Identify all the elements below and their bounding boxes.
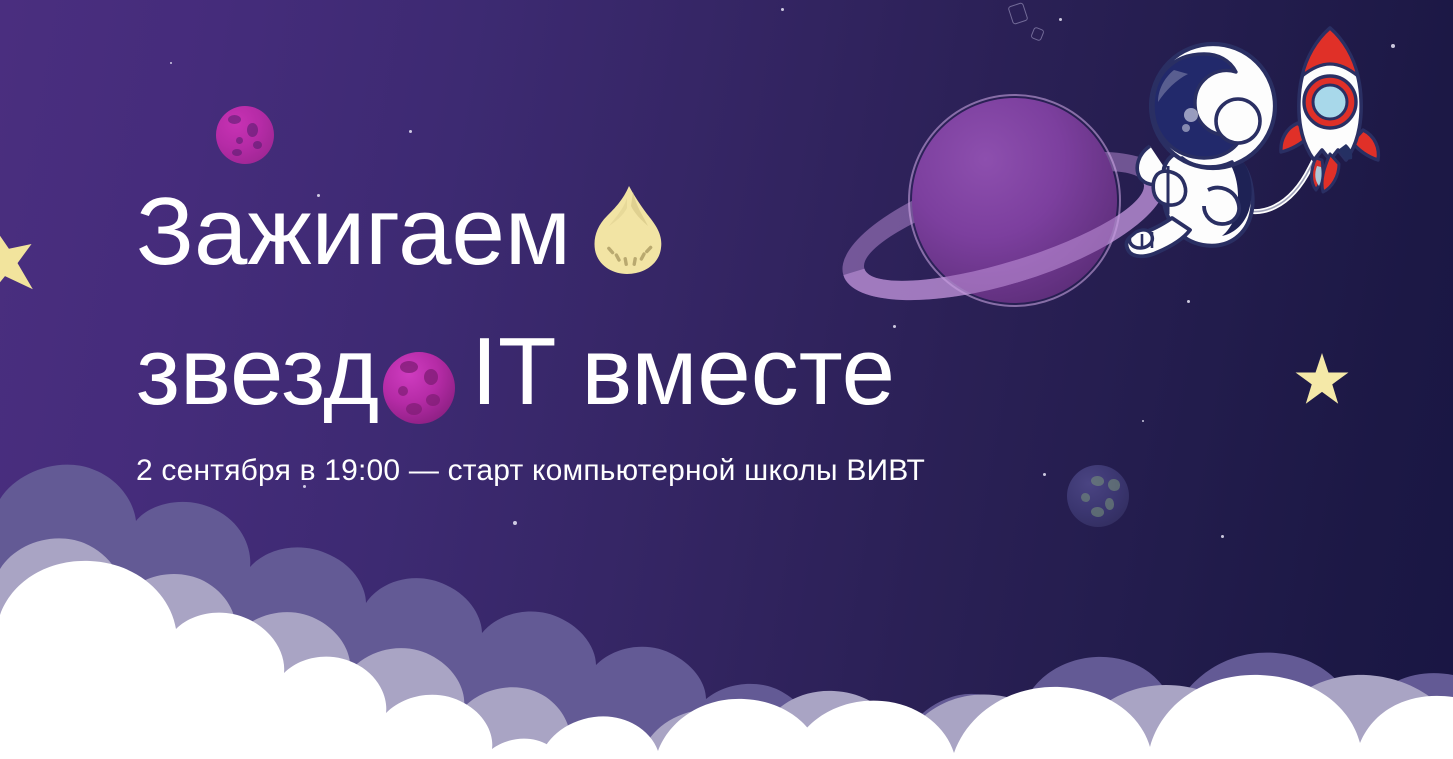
crater	[232, 149, 242, 156]
moon-icon-inline	[379, 320, 471, 448]
moon-icon-upper-left	[216, 106, 274, 164]
star-dot	[170, 62, 172, 64]
star-dot	[1142, 420, 1144, 422]
astronaut-with-rocket-illustration	[1120, 18, 1410, 283]
headline-line-2: звезд IT вместе	[136, 308, 1136, 448]
promo-banner: Зажигаем звезд	[0, 0, 1453, 759]
star-icon-left-edge	[0, 220, 43, 305]
astronaut-icon	[1126, 44, 1275, 256]
headline-line-2-text-a: звезд	[136, 318, 379, 425]
crater	[247, 123, 258, 137]
headline-line-1-text: Зажигаем	[136, 178, 571, 285]
star-icon-right	[1295, 353, 1349, 407]
headline-block: Зажигаем звезд	[136, 168, 1136, 488]
flame-icon	[571, 180, 671, 308]
star-dot	[1059, 18, 1062, 21]
star-dot	[781, 8, 784, 11]
headline-line-2-text-b: IT вместе	[471, 318, 895, 425]
cloud-icon-layer	[0, 459, 1453, 759]
faint-square-glyph	[1030, 26, 1045, 41]
crater	[253, 141, 262, 149]
rocket-icon	[1281, 28, 1379, 192]
faint-square-glyph	[1007, 2, 1028, 25]
crater	[236, 137, 243, 144]
crater	[228, 115, 241, 124]
star-dot	[1187, 300, 1190, 303]
star-dot	[409, 130, 412, 133]
headline-line-1: Зажигаем	[136, 168, 1136, 308]
